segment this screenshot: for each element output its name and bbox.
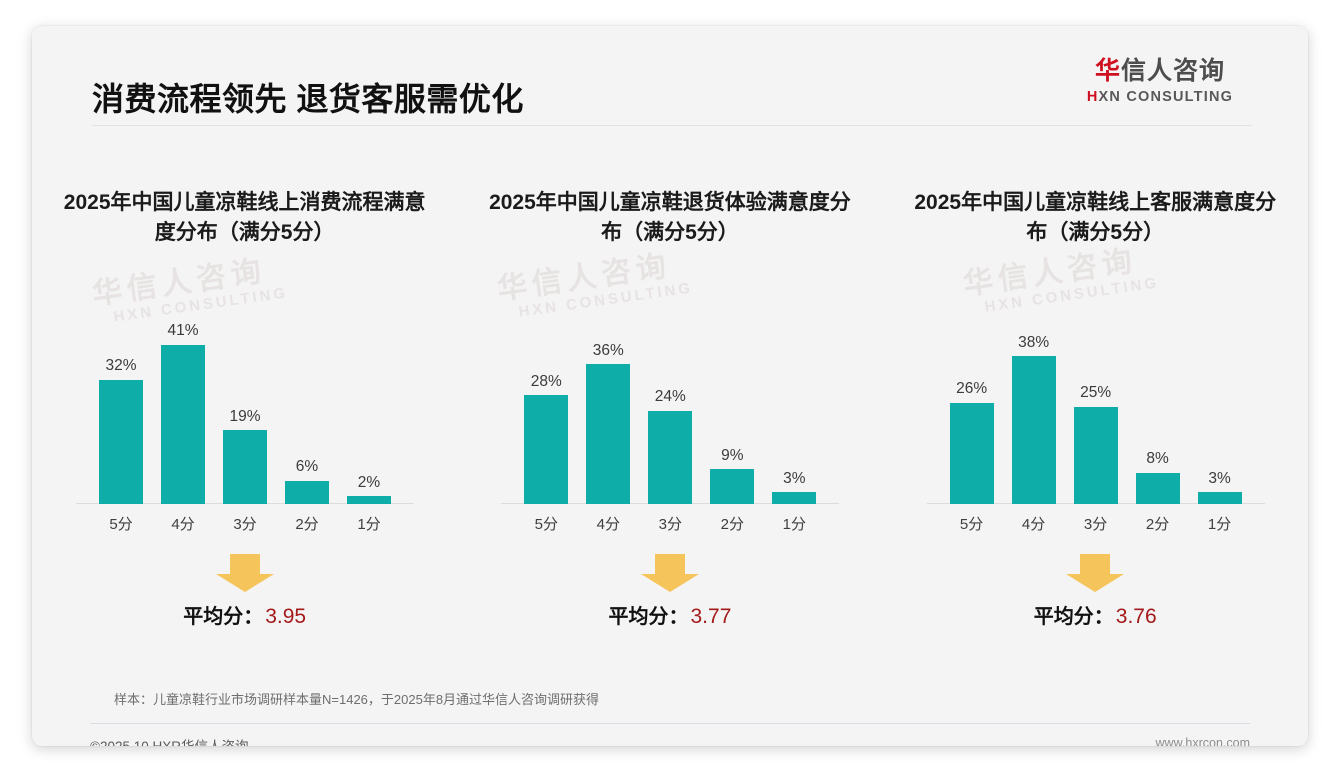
average-score-block: 平均分：3.95 (32, 554, 457, 629)
down-arrow-icon (214, 554, 276, 592)
chart-title: 2025年中国儿童凉鞋线上客服满意度分布（满分5分） (905, 188, 1286, 248)
bar-column[interactable]: 8% (1127, 304, 1189, 504)
bar-column[interactable]: 6% (276, 304, 338, 504)
bar[interactable] (586, 364, 630, 504)
bar[interactable] (99, 380, 143, 504)
logo-chinese: 华信人咨询 (1070, 58, 1250, 86)
bar-column[interactable]: 38% (1003, 304, 1065, 504)
bar-column[interactable]: 24% (639, 304, 701, 504)
arrow-stem (230, 554, 260, 574)
average-score-text: 平均分：3.76 (883, 600, 1308, 629)
plot-area: 26%38%25%8%3% (941, 304, 1251, 504)
slide-header: 消费流程领先 退货客服需优化 华信人咨询 HXN CONSULTING (32, 26, 1308, 124)
bar-column[interactable]: 19% (214, 304, 276, 504)
x-axis-tick-label: 3分 (214, 513, 276, 534)
bar-value-label: 26% (956, 381, 987, 397)
copyright-text: ©2025.10 HXR华信人咨询 (90, 735, 249, 746)
chart-panel-1: 华信人咨询HXN CONSULTING2025年中国儿童凉鞋线上消费流程满意度分… (32, 146, 457, 676)
bar-chart: 32%41%19%6%2%5分4分3分2分1分 (90, 296, 400, 536)
arrow-head (216, 574, 274, 592)
logo-chinese-rest: 信人咨询 (1121, 57, 1225, 85)
bar[interactable] (1012, 356, 1056, 504)
x-axis-tick-label: 5分 (515, 513, 577, 534)
x-axis-tick-label: 1分 (338, 513, 400, 534)
x-axis-tick-label: 4分 (1003, 513, 1065, 534)
bar-column[interactable]: 26% (941, 304, 1003, 504)
bar[interactable] (1074, 407, 1118, 504)
chart-title: 2025年中国儿童凉鞋线上消费流程满意度分布（满分5分） (54, 188, 435, 248)
bar[interactable] (161, 345, 205, 504)
bar[interactable] (223, 430, 267, 504)
slide-card: 消费流程领先 退货客服需优化 华信人咨询 HXN CONSULTING 华信人咨… (32, 26, 1308, 746)
average-score-value: 3.76 (1116, 605, 1157, 628)
bar-column[interactable]: 36% (577, 304, 639, 504)
bar-value-label: 6% (296, 459, 318, 475)
x-axis-tick-label: 2分 (1127, 513, 1189, 534)
bar-value-label: 24% (655, 389, 686, 405)
footer-divider (90, 723, 1250, 724)
bar-column[interactable]: 9% (701, 304, 763, 504)
average-score-text: 平均分：3.77 (457, 600, 882, 629)
x-axis-tick-labels: 5分4分3分2分1分 (941, 510, 1251, 536)
x-axis-tick-label: 3分 (639, 513, 701, 534)
bar[interactable] (524, 395, 568, 504)
arrow-stem (1080, 554, 1110, 574)
bar[interactable] (285, 481, 329, 504)
bar[interactable] (347, 496, 391, 504)
bar-value-label: 2% (358, 475, 380, 491)
average-score-text: 平均分：3.95 (32, 600, 457, 629)
down-arrow-icon (639, 554, 701, 592)
bar-column[interactable]: 41% (152, 304, 214, 504)
x-axis-tick-label: 1分 (763, 513, 825, 534)
arrow-head (1066, 574, 1124, 592)
logo-english-rest: XN CONSULTING (1099, 89, 1234, 105)
bar-column[interactable]: 28% (515, 304, 577, 504)
average-score-value: 3.95 (265, 605, 306, 628)
x-axis-tick-label: 5分 (90, 513, 152, 534)
bar[interactable] (710, 469, 754, 504)
x-axis-tick-label: 4分 (577, 513, 639, 534)
x-axis-tick-label: 4分 (152, 513, 214, 534)
bar-chart: 28%36%24%9%3%5分4分3分2分1分 (515, 296, 825, 536)
x-axis-tick-labels: 5分4分3分2分1分 (90, 510, 400, 536)
average-score-block: 平均分：3.76 (883, 554, 1308, 629)
bar-column[interactable]: 3% (1189, 304, 1251, 504)
average-score-value: 3.77 (691, 605, 732, 628)
bar-value-label: 28% (531, 374, 562, 390)
slide-footer: ©2025.10 HXR华信人咨询 www.hxrcon.com (32, 730, 1308, 746)
chart-panel-2: 华信人咨询HXN CONSULTING2025年中国儿童凉鞋退货体验满意度分布（… (457, 146, 882, 676)
bar[interactable] (648, 411, 692, 504)
x-axis-tick-label: 5分 (941, 513, 1003, 534)
x-axis-tick-label: 2分 (276, 513, 338, 534)
bar-value-label: 3% (1208, 471, 1230, 487)
bar-column[interactable]: 3% (763, 304, 825, 504)
bar-value-label: 9% (721, 448, 743, 464)
bar[interactable] (1198, 492, 1242, 504)
x-axis-tick-label: 1分 (1189, 513, 1251, 534)
average-score-label: 平均分： (609, 606, 689, 628)
average-score-block: 平均分：3.77 (457, 554, 882, 629)
header-divider (92, 125, 1252, 126)
plot-area: 28%36%24%9%3% (515, 304, 825, 504)
bar-column[interactable]: 25% (1065, 304, 1127, 504)
x-axis-tick-label: 2分 (701, 513, 763, 534)
bar[interactable] (772, 492, 816, 504)
bar-value-label: 8% (1146, 451, 1168, 467)
bar-value-label: 41% (167, 323, 198, 339)
logo-chinese-first-char: 华 (1095, 57, 1121, 85)
x-axis-tick-label: 3分 (1065, 513, 1127, 534)
plot-area: 32%41%19%6%2% (90, 304, 400, 504)
bar-chart: 26%38%25%8%3%5分4分3分2分1分 (941, 296, 1251, 536)
average-score-label: 平均分： (183, 606, 263, 628)
arrow-stem (655, 554, 685, 574)
bar-column[interactable]: 32% (90, 304, 152, 504)
logo-english-first-char: H (1087, 89, 1099, 105)
bar-value-label: 32% (105, 358, 136, 374)
bar-value-label: 19% (229, 409, 260, 425)
bar-value-label: 3% (783, 471, 805, 487)
bar[interactable] (950, 403, 994, 504)
sample-note: 样本：儿童凉鞋行业市场调研样本量N=1426，于2025年8月通过华信人咨询调研… (114, 689, 599, 708)
bar-column[interactable]: 2% (338, 304, 400, 504)
chart-title: 2025年中国儿童凉鞋退货体验满意度分布（满分5分） (479, 188, 860, 248)
chart-panels: 华信人咨询HXN CONSULTING2025年中国儿童凉鞋线上消费流程满意度分… (32, 146, 1308, 676)
website-text: www.hxrcon.com (1156, 736, 1250, 746)
page-title: 消费流程领先 退货客服需优化 (92, 74, 524, 120)
chart-panel-3: 华信人咨询HXN CONSULTING2025年中国儿童凉鞋线上客服满意度分布（… (883, 146, 1308, 676)
bar-value-label: 25% (1080, 385, 1111, 401)
arrow-head (641, 574, 699, 592)
logo-english: HXN CONSULTING (1070, 89, 1250, 105)
average-score-label: 平均分： (1034, 606, 1114, 628)
x-axis-tick-labels: 5分4分3分2分1分 (515, 510, 825, 536)
bar[interactable] (1136, 473, 1180, 504)
down-arrow-icon (1064, 554, 1126, 592)
bar-value-label: 38% (1018, 335, 1049, 351)
bar-value-label: 36% (593, 343, 624, 359)
company-logo: 华信人咨询 HXN CONSULTING (1070, 58, 1250, 105)
